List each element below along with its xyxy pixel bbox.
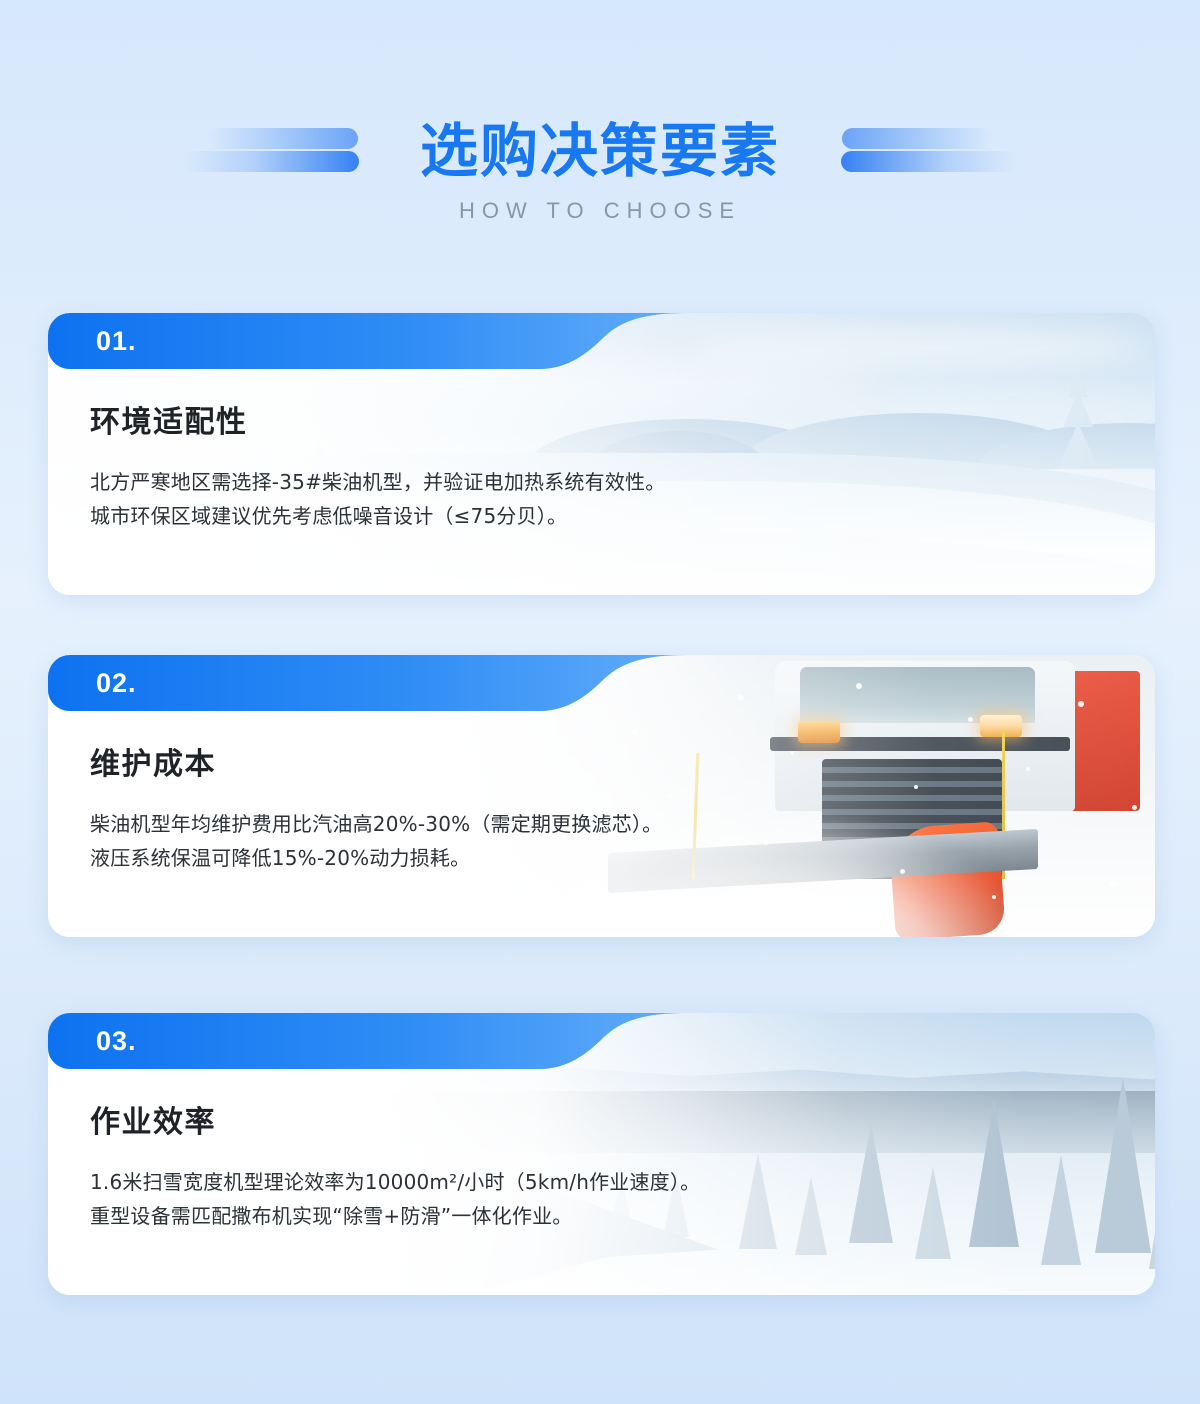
card-2-description: 柴油机型年均维护费用比汽油高20%-30%（需定期更换滤芯）。 液压系统保温可降… xyxy=(90,807,910,875)
decision-factor-card-1[interactable]: 01. 环境适配性 北方严寒地区需选择-35#柴油机型，并验证电加热系统有效性。… xyxy=(48,313,1155,595)
card-1-line-1: 北方严寒地区需选择-35#柴油机型，并验证电加热系统有效性。 xyxy=(90,465,910,499)
badge-ribbon-shape xyxy=(48,655,688,711)
card-3-line-1: 1.6米扫雪宽度机型理论效率为10000m²/小时（5km/h作业速度）。 xyxy=(90,1165,910,1199)
card-1-body: 环境适配性 北方严寒地区需选择-35#柴油机型，并验证电加热系统有效性。 城市环… xyxy=(90,397,910,533)
card-3-badge: 03. xyxy=(48,1013,688,1069)
card-2-line-1: 柴油机型年均维护费用比汽油高20%-30%（需定期更换滤芯）。 xyxy=(90,807,910,841)
deco-bar-right-bottom xyxy=(841,151,1016,172)
decorative-lines-left-icon xyxy=(208,116,398,186)
card-1-title: 环境适配性 xyxy=(90,397,910,441)
decorative-lines-right-icon xyxy=(802,116,992,186)
card-2-line-2: 液压系统保温可降低15%-20%动力损耗。 xyxy=(90,841,910,875)
card-3-description: 1.6米扫雪宽度机型理论效率为10000m²/小时（5km/h作业速度）。 重型… xyxy=(90,1165,910,1233)
card-3-number: 03. xyxy=(96,1024,137,1058)
page-header: 选购决策要素 HOW TO CHOOSE xyxy=(0,0,1200,260)
badge-ribbon-shape xyxy=(48,313,688,369)
page-title: 选购决策要素 xyxy=(398,122,802,180)
deco-bar-right-top xyxy=(842,128,992,149)
deco-bar-left-top xyxy=(208,128,358,149)
card-1-line-2: 城市环保区域建议优先考虑低噪音设计（≤75分贝）。 xyxy=(90,499,910,533)
card-1-number: 01. xyxy=(96,324,137,358)
page-subtitle: HOW TO CHOOSE xyxy=(0,198,1200,224)
decision-factor-card-3[interactable]: 03. 作业效率 1.6米扫雪宽度机型理论效率为10000m²/小时（5km/h… xyxy=(48,1013,1155,1295)
badge-ribbon-shape xyxy=(48,1013,688,1069)
card-2-title: 维护成本 xyxy=(90,739,910,783)
decision-factor-card-2[interactable]: 02. 维护成本 柴油机型年均维护费用比汽油高20%-30%（需定期更换滤芯）。… xyxy=(48,655,1155,937)
card-3-body: 作业效率 1.6米扫雪宽度机型理论效率为10000m²/小时（5km/h作业速度… xyxy=(90,1097,910,1233)
card-2-number: 02. xyxy=(96,666,137,700)
deco-bar-left-bottom xyxy=(184,151,359,172)
card-3-line-2: 重型设备需匹配撒布机实现“除雪+防滑”一体化作业。 xyxy=(90,1199,910,1233)
card-1-description: 北方严寒地区需选择-35#柴油机型，并验证电加热系统有效性。 城市环保区域建议优… xyxy=(90,465,910,533)
card-3-title: 作业效率 xyxy=(90,1097,910,1141)
title-row: 选购决策要素 xyxy=(0,108,1200,194)
card-2-badge: 02. xyxy=(48,655,688,711)
card-2-body: 维护成本 柴油机型年均维护费用比汽油高20%-30%（需定期更换滤芯）。 液压系… xyxy=(90,739,910,875)
card-1-badge: 01. xyxy=(48,313,688,369)
